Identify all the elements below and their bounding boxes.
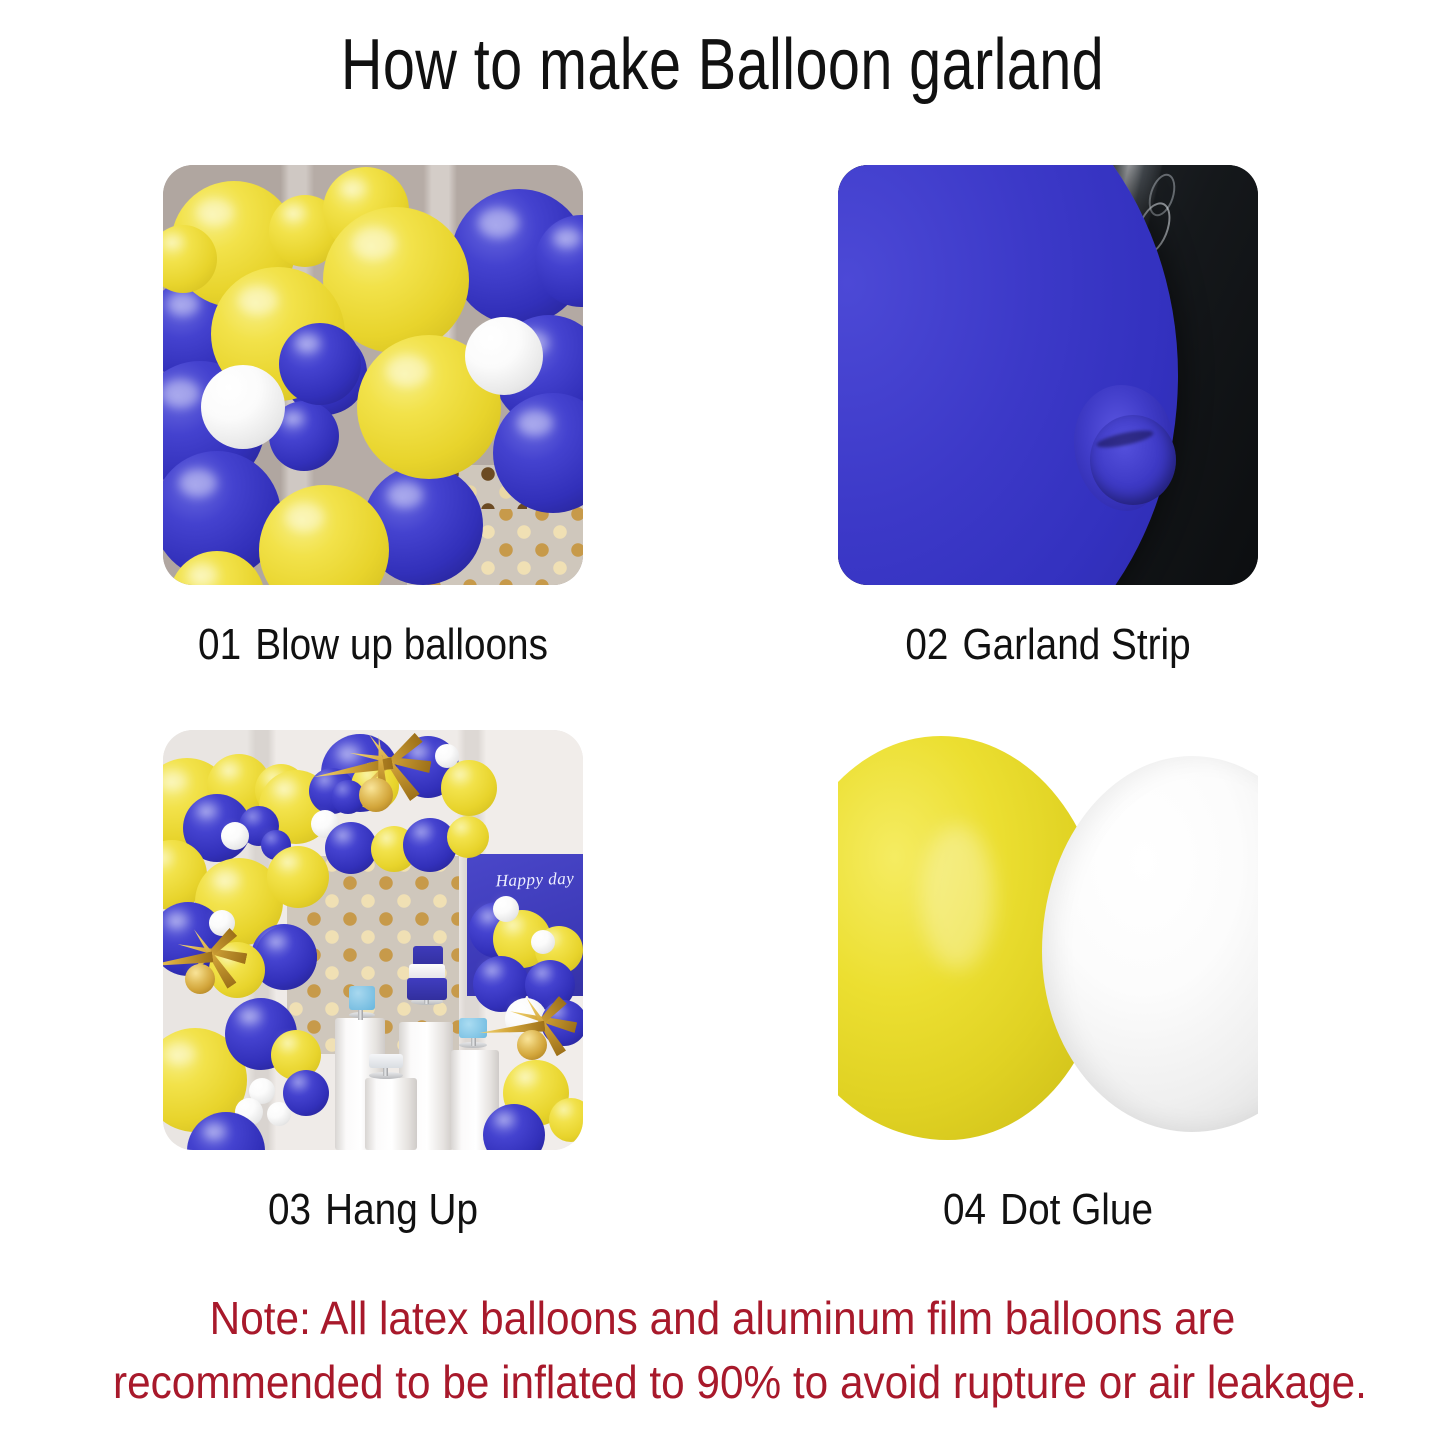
cake-tier-blue-bottom	[407, 978, 447, 1000]
step-card-01: 01Blow up balloons	[163, 165, 583, 671]
macaron-tower	[459, 1018, 487, 1038]
step-number-03: 03	[268, 1185, 311, 1234]
gold-star-core	[517, 1030, 547, 1060]
balloon-cluster-photo	[163, 165, 583, 585]
gold-star-core	[359, 778, 393, 812]
hang-up-photo: Happy day	[163, 730, 583, 1150]
step-card-02: 02Garland Strip	[838, 165, 1258, 671]
balloon-blue	[279, 323, 361, 405]
balloon-blue	[325, 822, 377, 874]
step-card-03: Happy day	[163, 730, 583, 1236]
note-line-1: Note: All latex balloons and aluminum fi…	[113, 1286, 1332, 1350]
balloon-knot-lobe	[1090, 415, 1176, 505]
step-caption-01: 01Blow up balloons	[188, 619, 558, 671]
step-label-03: Hang Up	[325, 1185, 478, 1234]
balloon-blue	[255, 926, 317, 988]
step-number-04: 04	[943, 1185, 986, 1234]
balloon-white	[531, 930, 555, 954]
step-number-01: 01	[198, 620, 241, 669]
balloon-white	[465, 317, 543, 395]
balloon-white	[493, 896, 519, 922]
pedestal	[365, 1078, 417, 1150]
step-caption-04: 04Dot Glue	[863, 1184, 1233, 1236]
balloon-white	[201, 365, 285, 449]
page-title: How to make Balloon garland	[145, 22, 1301, 108]
step-caption-03: 03Hang Up	[188, 1184, 558, 1236]
balloon-blue	[283, 1070, 329, 1116]
balloon-blue-large	[838, 165, 1178, 585]
step-label-04: Dot Glue	[1000, 1185, 1153, 1234]
balloon-yellow	[441, 760, 497, 816]
cake-tier-blue-top	[413, 946, 443, 966]
gold-star-core	[185, 964, 215, 994]
step-label-01: Blow up balloons	[255, 620, 548, 669]
step-card-04: 04Dot Glue	[838, 730, 1258, 1236]
dessert-plate	[369, 1054, 403, 1068]
balloon-white	[435, 744, 459, 768]
dot-glue-photo	[838, 730, 1258, 1150]
note-text: Note: All latex balloons and aluminum fi…	[113, 1286, 1332, 1414]
step-label-02: Garland Strip	[963, 620, 1191, 669]
balloon-yellow	[447, 816, 489, 858]
balloon-white-closeup	[1042, 756, 1258, 1132]
balloon-white	[221, 822, 249, 850]
step-number-02: 02	[905, 620, 948, 669]
step-caption-02: 02Garland Strip	[863, 619, 1233, 671]
happy-day-sign-text: Happy day	[475, 868, 583, 892]
garland-strip-photo	[838, 165, 1258, 585]
macaron-tower	[349, 986, 375, 1010]
balloon-yellow	[267, 846, 329, 908]
note-line-2: recommended to be inflated to 90% to avo…	[113, 1350, 1332, 1414]
